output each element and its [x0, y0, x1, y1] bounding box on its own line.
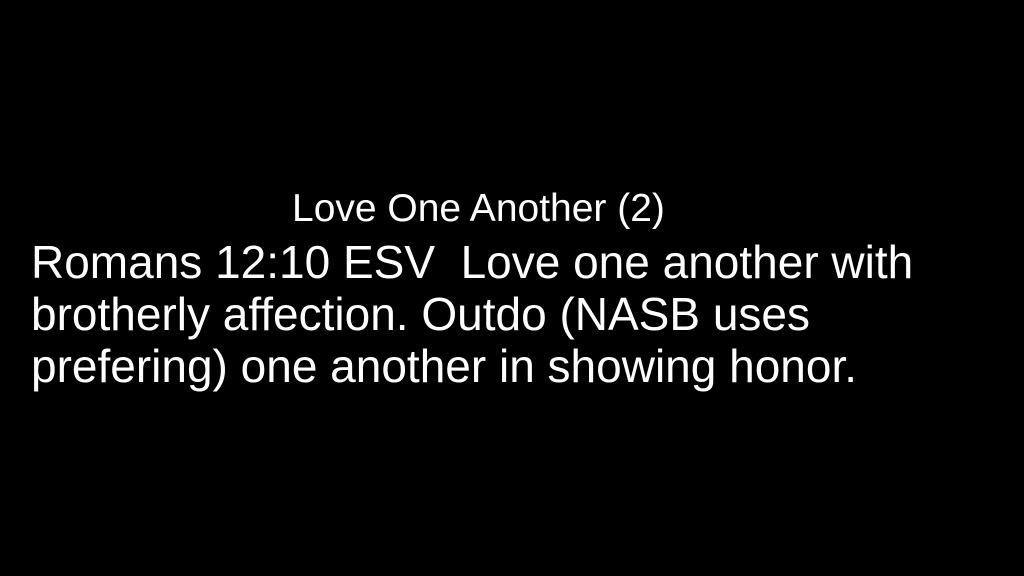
slide-title: Love One Another (2) [31, 185, 993, 232]
slide-body-text: Romans 12:10 ESV Love one another with b… [31, 236, 1006, 392]
presentation-slide: Love One Another (2) Romans 12:10 ESV Lo… [0, 0, 1024, 576]
